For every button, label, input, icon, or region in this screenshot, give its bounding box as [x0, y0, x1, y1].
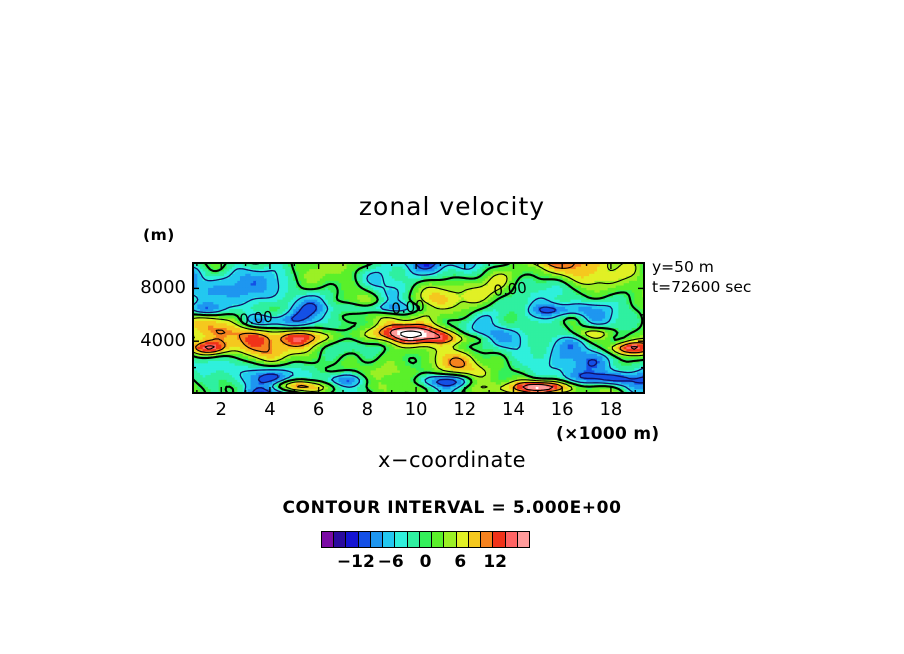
y-axis-tick-labels: 80004000	[0, 262, 186, 394]
page-title: zonal velocity	[0, 192, 904, 221]
contour-plot: 0.000.000.00	[192, 262, 645, 394]
y-axis-tick-label: 4000	[10, 330, 186, 351]
y-axis-unit-label: (m)	[143, 226, 175, 244]
y-axis-tick-label: 8000	[10, 277, 186, 298]
